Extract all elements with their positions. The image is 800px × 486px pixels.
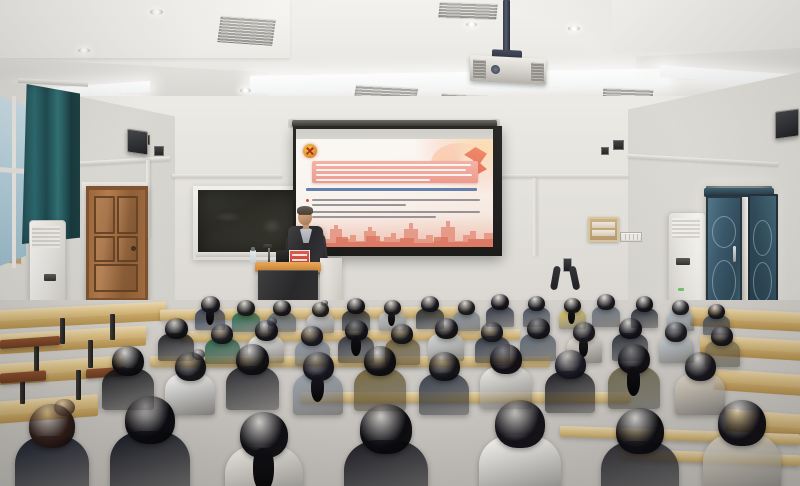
student-head — [685, 352, 716, 381]
desk-leg — [76, 370, 81, 400]
screen-surface — [296, 129, 493, 247]
air-vent-icon — [216, 15, 277, 47]
student-hair-bun — [267, 317, 277, 325]
wall-rail — [172, 174, 282, 178]
slide-heading — [306, 188, 482, 194]
student-head — [708, 304, 725, 319]
ac-vent-icon — [676, 258, 690, 265]
student-head — [391, 324, 413, 344]
projector-mount-pole — [503, 0, 510, 52]
student-head — [527, 318, 550, 339]
student-head — [491, 294, 509, 310]
slide-bullet-item — [312, 199, 480, 206]
student-head — [636, 296, 653, 312]
student-ponytail — [253, 448, 273, 486]
student-hair-bun — [54, 399, 74, 417]
ac-grill-icon — [32, 226, 60, 248]
chalk-smudge — [262, 218, 282, 234]
lecturer-hair — [297, 206, 313, 214]
desk-leg — [110, 314, 115, 340]
downlight-icon — [466, 22, 477, 27]
desk-leg — [60, 318, 65, 344]
ac-vent-icon — [44, 274, 56, 281]
door-knob-icon[interactable] — [131, 246, 136, 251]
student-head — [429, 352, 460, 381]
student-head — [718, 400, 766, 446]
wall-speaker-icon — [127, 129, 148, 156]
downlight-icon — [240, 88, 251, 93]
light-switch-panel[interactable] — [620, 232, 642, 242]
presentation-slide — [296, 139, 493, 247]
student-ponytail — [206, 309, 214, 325]
bottle-cap-icon — [251, 247, 255, 251]
downlight-icon — [78, 48, 90, 53]
student-head — [301, 326, 323, 346]
wall-rail — [500, 174, 628, 178]
student-ponytail — [351, 336, 361, 356]
student-head — [360, 404, 412, 454]
student-head — [528, 296, 545, 311]
student-head — [165, 318, 188, 339]
door-handle-icon[interactable] — [733, 246, 736, 262]
glasses-icon — [299, 214, 311, 218]
slide-quote-banner — [312, 161, 478, 183]
student-head — [665, 322, 687, 342]
student-head — [236, 344, 269, 375]
student-head — [597, 294, 615, 310]
ac-grill-icon — [672, 218, 700, 238]
air-vent-icon — [437, 1, 499, 21]
student-head — [616, 408, 664, 454]
ac-power-led-icon — [678, 288, 684, 291]
student-head — [435, 318, 458, 339]
student-head — [364, 346, 396, 376]
projector-vent-icon — [473, 60, 486, 80]
student-head — [347, 298, 365, 314]
projector-lens-icon — [491, 65, 500, 74]
wall-conduit — [533, 178, 537, 256]
student-head — [490, 344, 522, 374]
downlight-icon — [150, 9, 163, 15]
student-head — [421, 296, 439, 312]
student-head — [458, 300, 475, 315]
student-head — [125, 396, 175, 444]
student-head — [112, 346, 144, 376]
wall-speaker-icon — [775, 108, 799, 139]
student-head — [555, 350, 586, 379]
window-frame — [12, 96, 16, 268]
wall-outlet-box — [601, 147, 609, 155]
laptop — [276, 250, 290, 263]
lecture-hall-photo — [0, 0, 800, 486]
party-emblem-icon — [303, 144, 317, 158]
wall-outlet-box — [613, 140, 624, 150]
student-head — [711, 326, 733, 346]
wall-outlet-box — [154, 146, 164, 156]
desk-leg — [88, 340, 93, 368]
ceiling-soffit-right — [612, 0, 800, 52]
student-head — [672, 300, 689, 315]
projector-vent-icon — [531, 63, 544, 83]
student-head — [237, 300, 255, 316]
downlight-icon — [568, 26, 580, 31]
desk-leg — [34, 344, 39, 372]
student-head — [495, 400, 545, 448]
student-head — [273, 300, 291, 316]
door-left-wooden[interactable] — [86, 186, 148, 301]
student-head — [211, 324, 233, 344]
student-head — [619, 318, 642, 339]
notice-board — [588, 217, 619, 242]
chalk-smudge — [214, 212, 242, 222]
student-head — [481, 322, 503, 342]
